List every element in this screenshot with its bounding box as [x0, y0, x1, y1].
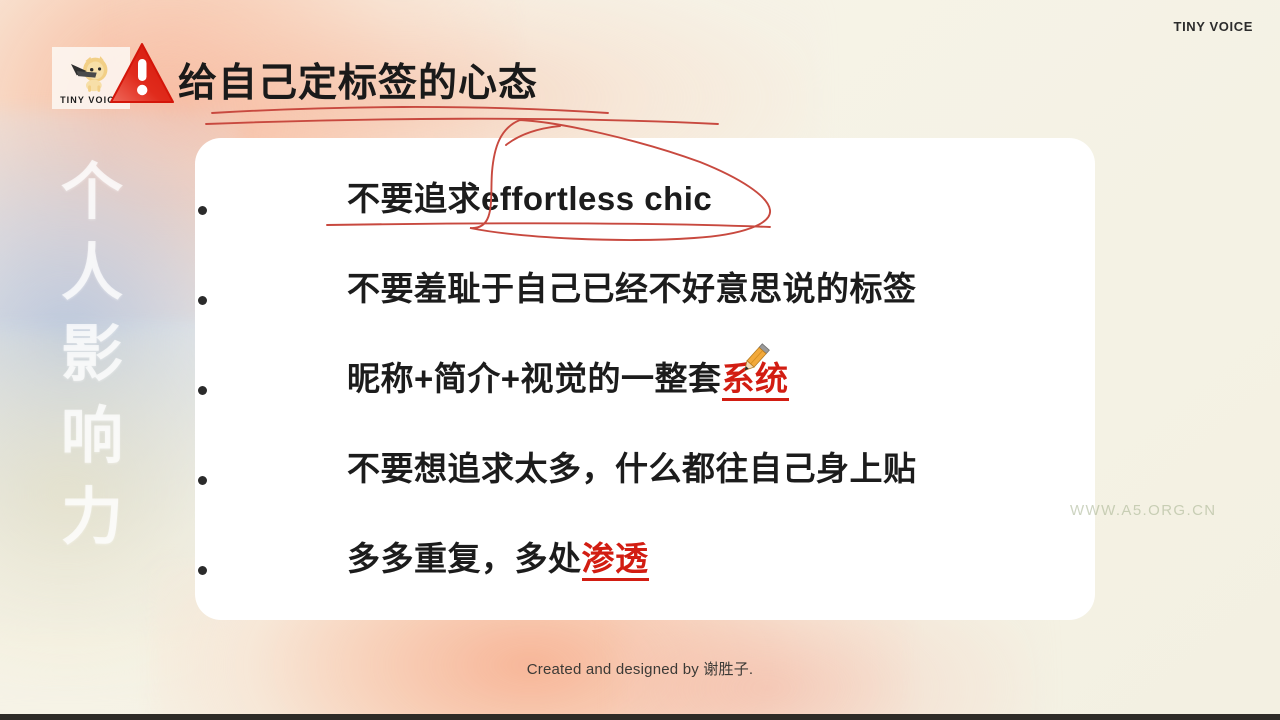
list-item: 多多重复，多处渗透	[195, 540, 1095, 630]
page-title: 给自己定标签的心态	[178, 52, 538, 108]
warning-triangle-icon	[108, 40, 176, 108]
list-item-text-plain: 昵称+简介+视觉的一整套	[347, 360, 722, 397]
footer-credit: Created and designed by 谢胜子.	[0, 658, 1280, 679]
bullet-dot-icon	[198, 566, 207, 575]
vertical-char-3: 影	[61, 314, 123, 395]
list-item-label: 昵称+简介+视觉的一整套系统	[347, 360, 789, 399]
bullet-dot-icon	[198, 476, 207, 485]
vertical-char-1: 个	[61, 152, 123, 233]
pencil-cursor-icon[interactable]	[736, 340, 774, 378]
vertical-watermark-text: 个 人 影 响 力	[46, 152, 138, 558]
content-card: 不要追求effortless chic 不要羞耻于自己已经不好意思说的标签 昵称…	[195, 138, 1095, 620]
list-item-label: 不要想追求太多，什么都往自己身上贴	[347, 450, 917, 489]
vertical-char-4: 响	[61, 396, 123, 477]
list-item-label: 多多重复，多处渗透	[347, 540, 649, 579]
list-item-label: 不要追求effortless chic	[347, 180, 712, 219]
presentation-slide: 个 人 影 响 力 TINY VOICE TINY VOICE	[0, 0, 1280, 720]
list-item-text-plain: 多多重复，多处	[347, 540, 582, 577]
watermark-top-right: TINY VOICE	[1174, 19, 1253, 34]
watermark-bottom-right: WWW.A5.ORG.CN	[1070, 502, 1217, 519]
bottom-bar	[0, 714, 1280, 720]
bullet-dot-icon	[198, 206, 207, 215]
bullet-list: 不要追求effortless chic 不要羞耻于自己已经不好意思说的标签 昵称…	[195, 138, 1095, 620]
list-item: 不要追求effortless chic	[195, 180, 1095, 270]
list-item-text-highlight: 渗透	[582, 540, 649, 581]
list-item: 昵称+简介+视觉的一整套系统	[195, 360, 1095, 450]
vertical-char-2: 人	[61, 233, 123, 314]
list-item: 不要想追求太多，什么都往自己身上贴	[195, 450, 1095, 540]
bullet-dot-icon	[198, 296, 207, 305]
list-item-label: 不要羞耻于自己已经不好意思说的标签	[347, 270, 917, 309]
bullet-dot-icon	[198, 386, 207, 395]
vertical-char-5: 力	[61, 477, 123, 558]
list-item: 不要羞耻于自己已经不好意思说的标签	[195, 270, 1095, 360]
